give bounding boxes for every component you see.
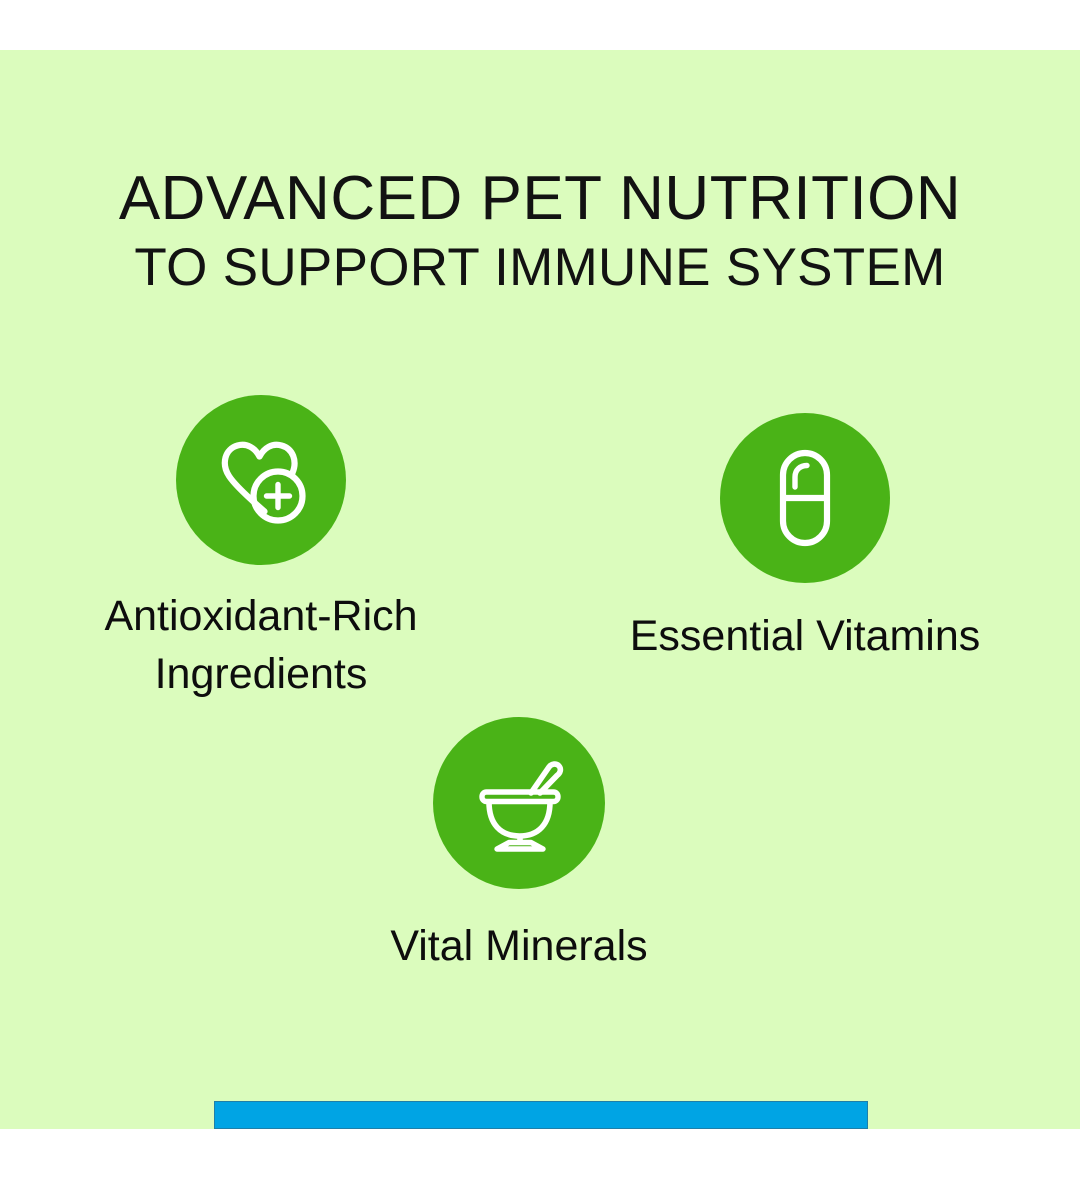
heading-block: ADVANCED PET NUTRITION TO SUPPORT IMMUNE… xyxy=(0,162,1080,300)
page-subtitle: TO SUPPORT IMMUNE SYSTEM xyxy=(0,236,1080,300)
feature-label-vitamins: Essential Vitamins xyxy=(600,607,1010,665)
feature-antioxidant-rich-ingredients[interactable]: Antioxidant-Rich Ingredients xyxy=(40,395,482,703)
bottom-accent-bar xyxy=(214,1101,868,1129)
feature-vital-minerals[interactable]: Vital Minerals xyxy=(314,717,724,975)
icon-circle-vitamins xyxy=(720,413,890,583)
icon-circle-antioxidant xyxy=(176,395,346,565)
feature-label-minerals: Vital Minerals xyxy=(314,917,724,975)
heart-plus-icon xyxy=(206,425,316,535)
infographic-page: ADVANCED PET NUTRITION TO SUPPORT IMMUNE… xyxy=(0,0,1080,1183)
page-title: ADVANCED PET NUTRITION xyxy=(0,162,1080,236)
mortar-pestle-icon xyxy=(464,748,574,858)
feature-essential-vitamins[interactable]: Essential Vitamins xyxy=(600,413,1010,665)
icon-circle-minerals xyxy=(433,717,605,889)
capsule-pill-icon xyxy=(750,443,860,553)
feature-label-antioxidant: Antioxidant-Rich Ingredients xyxy=(40,587,482,703)
